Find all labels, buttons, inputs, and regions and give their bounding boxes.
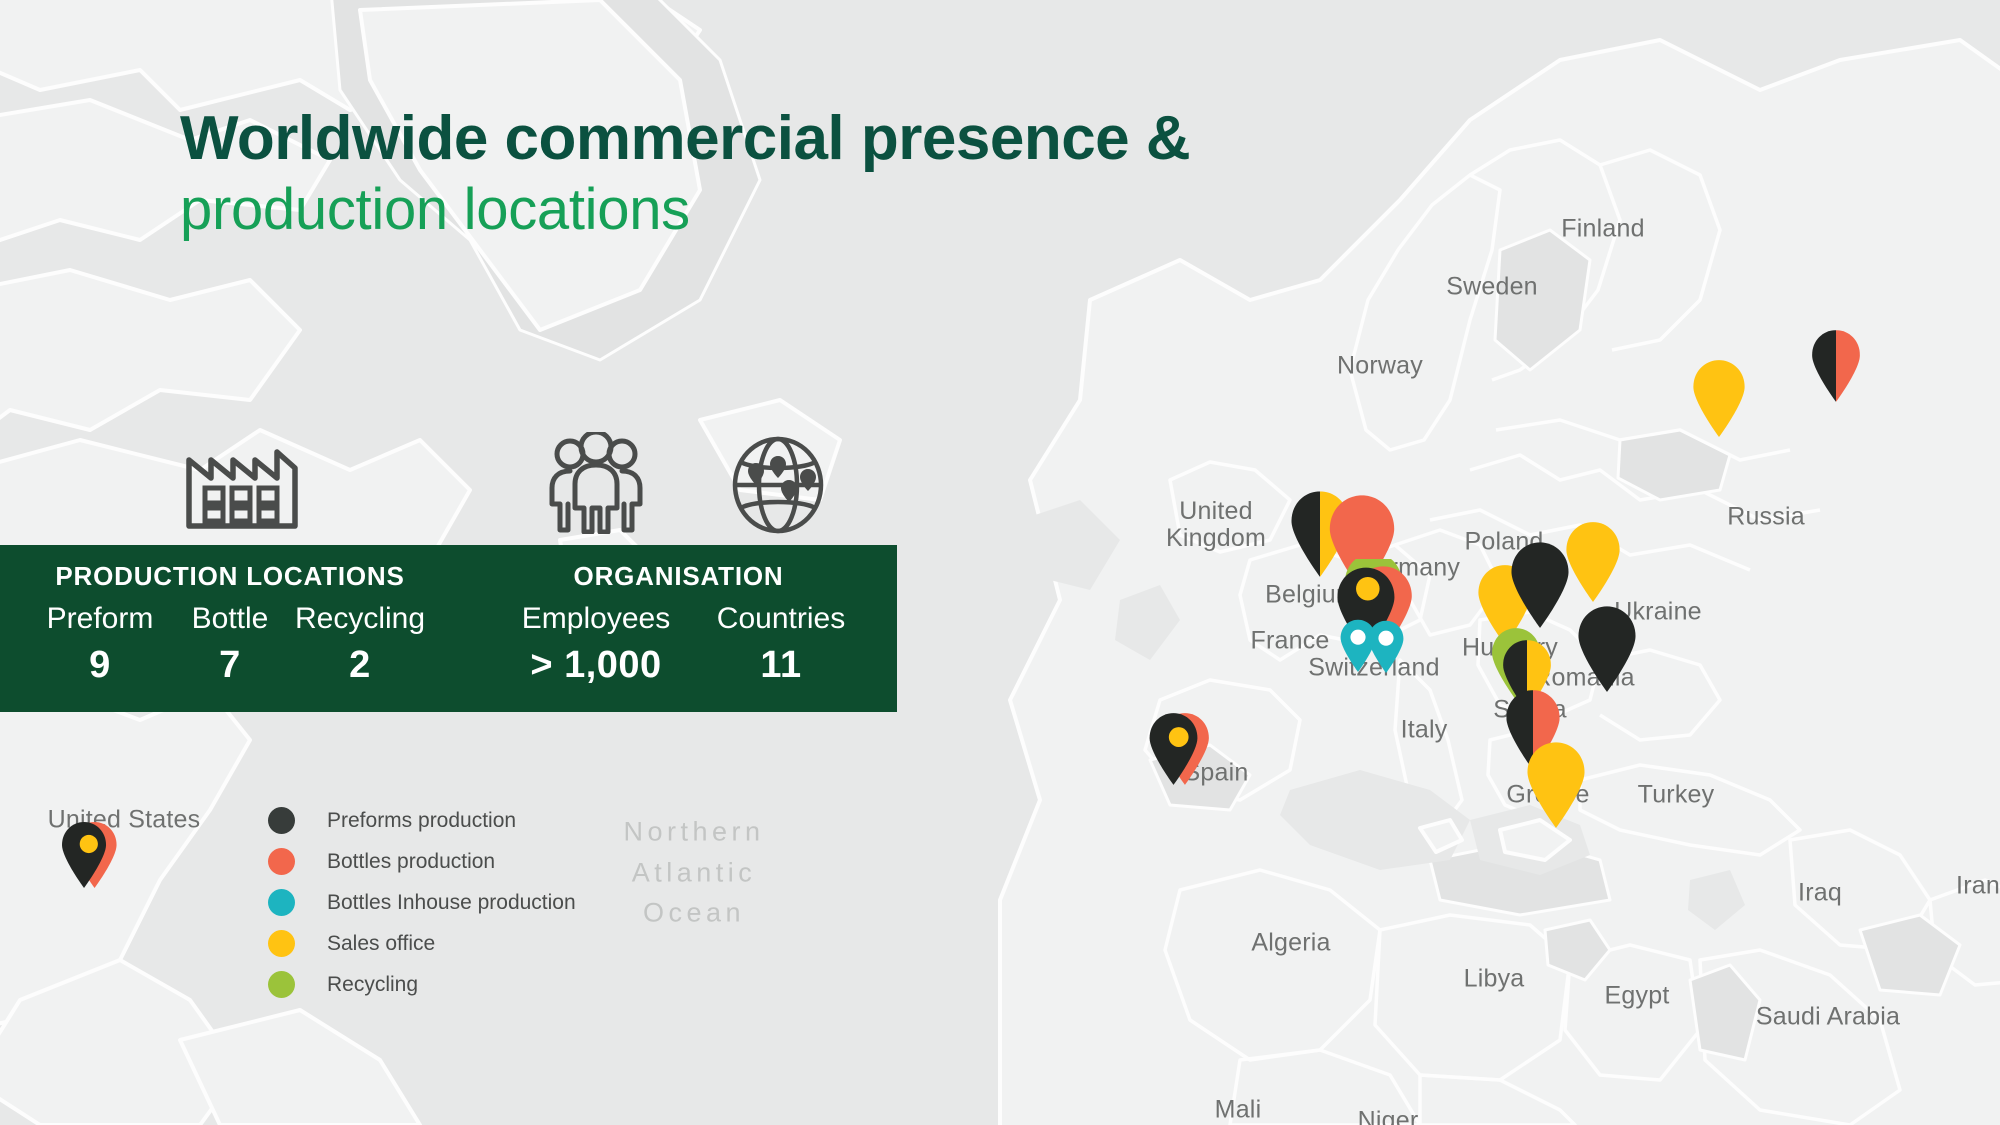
stat-label: Bottle <box>192 602 269 636</box>
legend-label: Recycling <box>327 973 418 997</box>
stat-countries: Countries 11 <box>699 592 864 712</box>
stat-recycling: Recycling 2 <box>295 592 425 712</box>
pin-ukraine[interactable] <box>1564 521 1622 602</box>
stat-value: 11 <box>760 644 801 687</box>
pin-poland[interactable] <box>1509 541 1571 628</box>
stat-label: Preform <box>47 602 154 636</box>
legend-color-dot <box>268 848 295 875</box>
stat-label: Recycling <box>295 602 425 636</box>
legend-color-dot <box>268 930 295 957</box>
legend-label: Bottles Inhouse production <box>327 891 576 915</box>
legend-color-dot <box>268 889 295 916</box>
pin-switzerland-inhouse-2[interactable] <box>1367 620 1405 673</box>
pin-russia-west[interactable] <box>1691 359 1747 437</box>
stats-group-organisation: ORGANISATION Employees > 1,000 Countries… <box>460 545 897 712</box>
stat-preform: Preform 9 <box>35 592 165 712</box>
legend-label: Bottles production <box>327 850 495 874</box>
stat-label: Countries <box>717 602 845 636</box>
stat-value: 9 <box>89 644 111 687</box>
stat-value: 7 <box>219 644 241 687</box>
legend-color-dot <box>268 807 295 834</box>
pin-romania[interactable] <box>1576 605 1638 692</box>
title-line-2: production locations <box>180 178 1190 243</box>
ocean-label: NorthernAtlanticOcean <box>623 811 764 933</box>
stats-group-production: PRODUCTION LOCATIONS Preform 9 Bottle 7 … <box>0 545 460 712</box>
globe-pins-icon <box>731 436 825 539</box>
page-title: Worldwide commercial presence & producti… <box>180 108 1190 243</box>
title-line-1: Worldwide commercial presence & <box>180 108 1190 170</box>
pin-greece-sales[interactable] <box>1525 741 1587 828</box>
stat-value: > 1,000 <box>530 644 661 687</box>
kpi-icon-row <box>0 430 900 540</box>
stats-group-title: PRODUCTION LOCATIONS <box>0 545 460 592</box>
legend-label: Sales office <box>327 932 435 956</box>
legend-color-dot <box>268 971 295 998</box>
people-group-icon <box>548 432 644 539</box>
stat-bottle: Bottle 7 <box>165 592 295 712</box>
legend-item[interactable]: Recycling <box>268 964 576 1005</box>
map-legend: Preforms productionBottles productionBot… <box>268 800 576 1005</box>
slide-root: NorthernAtlanticOcean United StatesUnite… <box>0 0 2000 1125</box>
pin-russia-east[interactable] <box>1810 329 1862 402</box>
stat-employees: Employees > 1,000 <box>494 592 699 712</box>
stat-value: 2 <box>349 644 371 687</box>
legend-item[interactable]: Sales office <box>268 923 576 964</box>
legend-label: Preforms production <box>327 809 516 833</box>
stats-panel: PRODUCTION LOCATIONS Preform 9 Bottle 7 … <box>0 545 897 712</box>
stat-label: Employees <box>522 602 670 636</box>
pin-spain[interactable] <box>1148 712 1213 785</box>
legend-item[interactable]: Bottles production <box>268 841 576 882</box>
stats-group-title: ORGANISATION <box>460 545 897 592</box>
legend-item[interactable]: Bottles Inhouse production <box>268 882 576 923</box>
legend-item[interactable]: Preforms production <box>268 800 576 841</box>
pin-united-states[interactable] <box>60 821 120 888</box>
factory-icon <box>183 438 301 538</box>
